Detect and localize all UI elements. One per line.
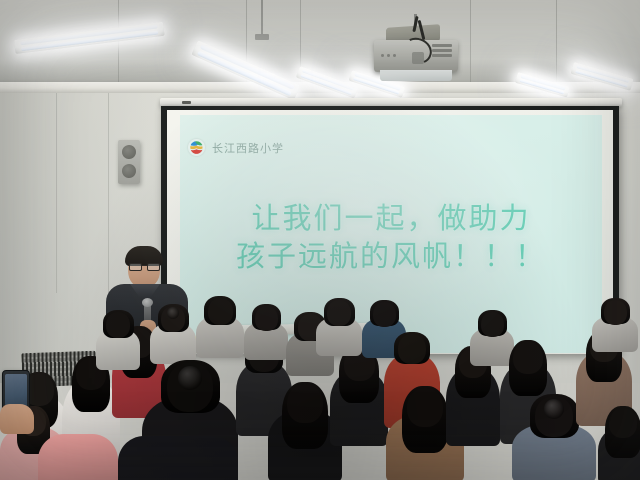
audience-person-head (208, 298, 233, 325)
audience-person-hair-bun (178, 366, 202, 390)
audience-person (316, 298, 362, 356)
wall-seam (56, 93, 57, 293)
wall-speaker-icon (118, 140, 140, 184)
audience-person-head (398, 334, 426, 364)
audience-person-head (373, 302, 396, 327)
audience-person-head (327, 300, 351, 326)
slide-brand-name: 长江西路小学 (212, 140, 284, 156)
audience-person-coat (38, 434, 118, 480)
audience-person-head (604, 300, 627, 325)
audience-person-head (481, 312, 504, 337)
audience-person-head (287, 384, 323, 423)
audience-person (330, 346, 388, 446)
audience-person (38, 434, 118, 480)
school-emblem-icon (188, 139, 205, 156)
audience-person-coat (118, 436, 238, 480)
audience-person-head (255, 306, 278, 331)
audience-person-head (407, 388, 443, 427)
audience-person (150, 304, 196, 364)
glasses-bridge (141, 265, 147, 266)
audience-person-hair-bun (167, 307, 179, 319)
classroom-photo-scene: 长江西路小学 让我们一起，做助力 孩子远航的风帆！！！ (0, 0, 640, 480)
audience-person (592, 298, 638, 352)
audience-person (118, 436, 238, 480)
holding-hand (0, 404, 34, 434)
glasses-icon (147, 263, 160, 271)
audience-person (96, 310, 140, 370)
audience (0, 286, 640, 480)
slide-brand: 长江西路小学 (188, 139, 284, 156)
audience-person-hair-bun (544, 399, 564, 419)
audience-person-head (513, 342, 543, 374)
ceiling-projector-icon (368, 14, 464, 84)
audience-person-head (106, 312, 130, 338)
slide-title-line-1: 让我们一起，做助力 (251, 201, 530, 235)
audience-person (598, 406, 640, 480)
slide-title-line-2: 孩子远航的风帆！！！ (180, 238, 602, 276)
slide-title: 让我们一起，做助力 孩子远航的风帆！！！ (180, 200, 602, 275)
audience-person (244, 304, 288, 360)
audience-person-head (609, 408, 637, 438)
